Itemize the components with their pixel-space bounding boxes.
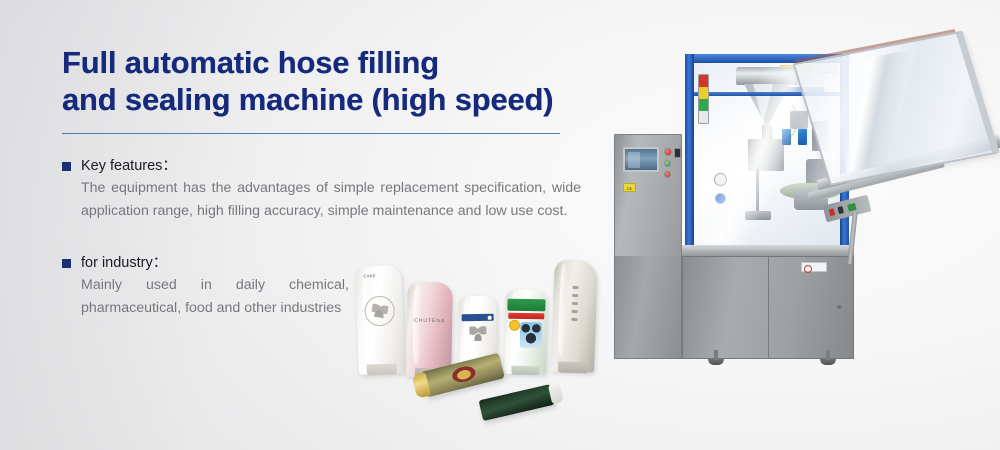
tube-graphic-icon bbox=[469, 326, 486, 341]
square-bullet-icon bbox=[62, 162, 71, 171]
machine-cabinet bbox=[682, 256, 854, 359]
hmi-touchscreen[interactable] bbox=[623, 147, 659, 172]
tower-light-base bbox=[699, 111, 708, 123]
feature-block-for-industry: for industry： Mainly used in daily chemi… bbox=[62, 253, 582, 320]
industry-heading-label: for industry： bbox=[81, 253, 167, 273]
tower-light-icon bbox=[698, 74, 709, 124]
product-banner: Full automatic hose filling and sealing … bbox=[0, 0, 1000, 450]
tube-cartoon-character-icon bbox=[520, 322, 542, 348]
title-divider bbox=[62, 133, 560, 134]
tower-light-yellow bbox=[699, 87, 708, 99]
cabinet-door-seam bbox=[768, 257, 769, 358]
tube-gold-cap bbox=[412, 372, 431, 399]
machine-foot bbox=[820, 359, 836, 365]
cabinet-handle-icon[interactable] bbox=[837, 305, 841, 309]
tube-dark-green-lying bbox=[479, 384, 556, 421]
tower-light-red bbox=[699, 75, 708, 87]
switch-green-icon[interactable] bbox=[847, 203, 856, 212]
tube-crest-icon bbox=[447, 361, 481, 387]
panel-skirt bbox=[614, 256, 682, 359]
page-title-line-2: and sealing machine (high speed) bbox=[62, 81, 582, 118]
machine-foot bbox=[708, 359, 724, 365]
frame-post-left bbox=[685, 54, 694, 254]
feature-heading-label: Key features： bbox=[81, 156, 177, 176]
machine-photo: CE bbox=[612, 30, 992, 380]
page-title: Full automatic hose filling and sealing … bbox=[62, 44, 582, 118]
industry-body-text: Mainly used in daily chemical, pharmaceu… bbox=[81, 274, 349, 320]
text-column: Full automatic hose filling and sealing … bbox=[62, 44, 582, 320]
square-bullet-icon bbox=[62, 259, 71, 268]
page-title-line-1: Full automatic hose filling bbox=[62, 44, 582, 81]
tube-cap bbox=[558, 361, 588, 373]
switch-red-icon[interactable] bbox=[829, 208, 836, 216]
tube-spf-badge-icon bbox=[509, 320, 520, 331]
tube-cap bbox=[367, 363, 397, 375]
warning-sticker-icon bbox=[801, 262, 827, 272]
ce-mark-icon: CE bbox=[623, 183, 636, 192]
start-button[interactable] bbox=[664, 160, 671, 167]
emergency-stop-button[interactable] bbox=[664, 148, 672, 156]
open-safety-door[interactable] bbox=[793, 31, 1000, 186]
selector-switch[interactable] bbox=[674, 148, 681, 158]
tube-cap bbox=[511, 366, 539, 375]
switch-black-icon[interactable] bbox=[837, 206, 844, 214]
stop-button[interactable] bbox=[664, 171, 671, 178]
tube-white-cap bbox=[548, 383, 564, 404]
feature-block-key-features: Key features： The equipment has the adva… bbox=[62, 156, 582, 223]
industry-heading-row: for industry： bbox=[62, 253, 582, 273]
tower-light-green bbox=[699, 99, 708, 111]
feature-body-text: The equipment has the advantages of simp… bbox=[81, 177, 581, 223]
feature-heading-row: Key features： bbox=[62, 156, 582, 176]
